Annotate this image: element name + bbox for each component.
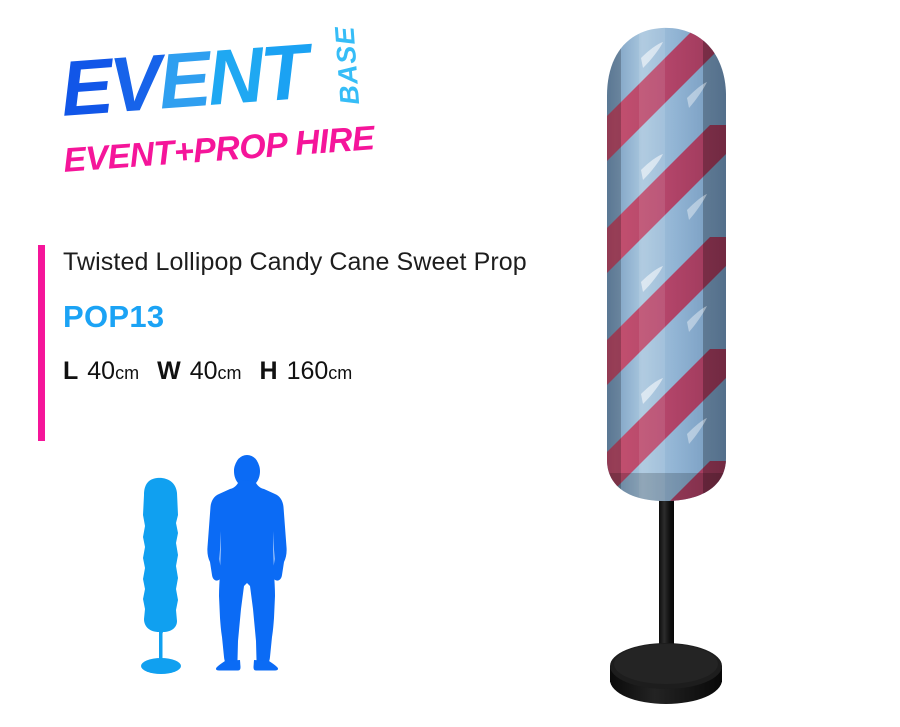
brand-letter-t: T bbox=[258, 27, 309, 118]
dimension-label-w: W bbox=[157, 357, 181, 385]
product-code: POP13 bbox=[63, 299, 603, 335]
dimension-value-l: 40 bbox=[87, 357, 115, 385]
accent-bar bbox=[38, 245, 45, 441]
product-spec-card: EVENT BASE EVENT+PROP HIRE Twisted Lolli… bbox=[0, 0, 900, 727]
brand-wordmark: EVENT bbox=[58, 32, 308, 128]
brand-letter-n: N bbox=[204, 30, 264, 122]
dimension-value-h: 160 bbox=[287, 357, 329, 385]
product-dimensions: L40cmW40cmH160cm bbox=[63, 356, 603, 388]
dimension-unit-w: cm bbox=[218, 363, 242, 383]
brand-logo: EVENT BASE EVENT+PROP HIRE bbox=[58, 46, 378, 176]
dimension-label-l: L bbox=[63, 357, 78, 385]
prop-base bbox=[610, 643, 722, 704]
product-info: Twisted Lollipop Candy Cane Sweet Prop P… bbox=[63, 245, 603, 388]
prop-silhouette-icon bbox=[130, 463, 192, 678]
candy-body bbox=[595, 18, 755, 616]
dimension-label-h: H bbox=[260, 357, 278, 385]
person-silhouette-icon bbox=[205, 455, 289, 671]
brand-letter-e1: E bbox=[58, 41, 113, 132]
dimension-unit-h: cm bbox=[328, 363, 352, 383]
scale-comparison-diagram bbox=[125, 455, 315, 680]
brand-letter-e2: E bbox=[155, 34, 210, 125]
dimension-value-w: 40 bbox=[190, 357, 218, 385]
brand-subword-base: BASE bbox=[329, 25, 366, 106]
product-title: Twisted Lollipop Candy Cane Sweet Prop bbox=[63, 245, 603, 279]
brand-subword-wrap: BASE bbox=[331, 42, 412, 79]
product-photo bbox=[595, 18, 755, 718]
dimension-unit-l: cm bbox=[115, 363, 139, 383]
brand-letter-v: V bbox=[107, 38, 162, 129]
